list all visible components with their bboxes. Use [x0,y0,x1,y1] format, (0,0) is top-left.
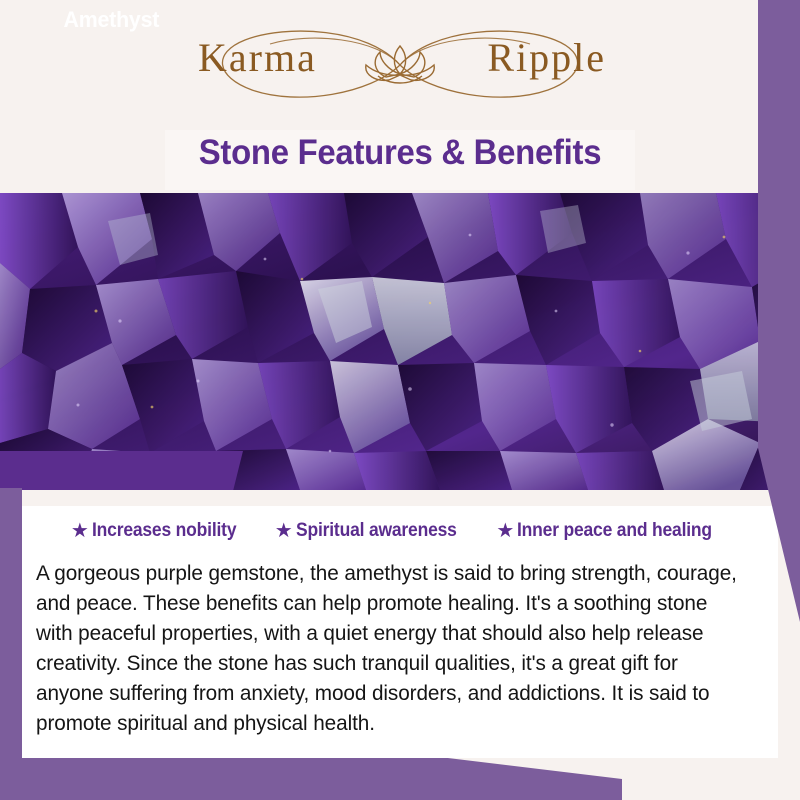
title-band: Stone Features & Benefits [0,128,800,193]
star-icon: ★ [496,521,514,541]
benefit-item: ★ Inner peace and healing [496,520,729,542]
stone-name-banner [0,451,243,490]
brand-logo: Karma Ripple [190,22,610,108]
stone-name-label: Amethyst [63,7,159,33]
star-icon: ★ [71,521,89,541]
brand-name-right: Ripple [487,38,606,78]
stone-description-text: A gorgeous purple gemstone, the amethyst… [36,558,740,738]
benefit-label: Inner peace and healing [517,520,712,542]
stone-details-card: ★ Increases nobility ★ Spiritual awarene… [22,506,778,758]
amethyst-crystal-photo [0,193,800,490]
amethyst-crystal-photo-art [0,193,800,490]
product-info-card: Karma Ripple Stone Features & Benefits [0,0,800,800]
benefit-item: ★ Spiritual awareness [275,520,471,542]
benefit-label: Increases nobility [92,520,236,542]
page-title: Stone Features & Benefits [24,133,776,173]
benefits-list: ★ Increases nobility ★ Spiritual awarene… [22,520,778,542]
frame-accent-left [0,488,22,800]
benefit-label: Spiritual awareness [296,520,457,542]
star-icon: ★ [275,521,293,541]
brand-name-left: Karma [198,38,317,78]
frame-accent-bottom [0,758,622,800]
benefit-item: ★ Increases nobility [71,520,249,542]
